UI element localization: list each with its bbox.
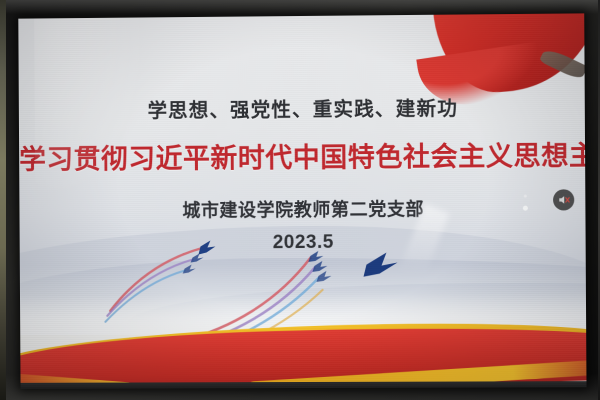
slide-canvas: 学思想、强党性、重实践、建新功 学习贯彻习近平新时代中国特色社会主义思想主题教育… (18, 13, 586, 388)
lens-speck-large (523, 206, 528, 211)
slide-text-block: 学思想、强党性、重实践、建新功 学习贯彻习近平新时代中国特色社会主义思想主题教育… (18, 13, 586, 388)
display-screen: 学思想、强党性、重实践、建新功 学习贯彻习近平新时代中国特色社会主义思想主题教育… (18, 13, 586, 388)
slide-motto-line: 学思想、强党性、重实践、建新功 (18, 91, 586, 124)
mute-badge[interactable] (553, 189, 574, 210)
slide-headline: 学习贯彻习近平新时代中国特色社会主义思想主题教育 (19, 134, 586, 177)
photograph: 学思想、强党性、重实践、建新功 学习贯彻习近平新时代中国特色社会主义思想主题教育… (0, 0, 600, 400)
slide-date: 2023.5 (18, 230, 586, 255)
bezel-top-highlight (6, 0, 598, 14)
lens-speck-small (524, 195, 527, 198)
muted-speaker-icon (557, 193, 570, 206)
slide-organization: 城市建设学院教师第二党支部 (18, 194, 586, 223)
